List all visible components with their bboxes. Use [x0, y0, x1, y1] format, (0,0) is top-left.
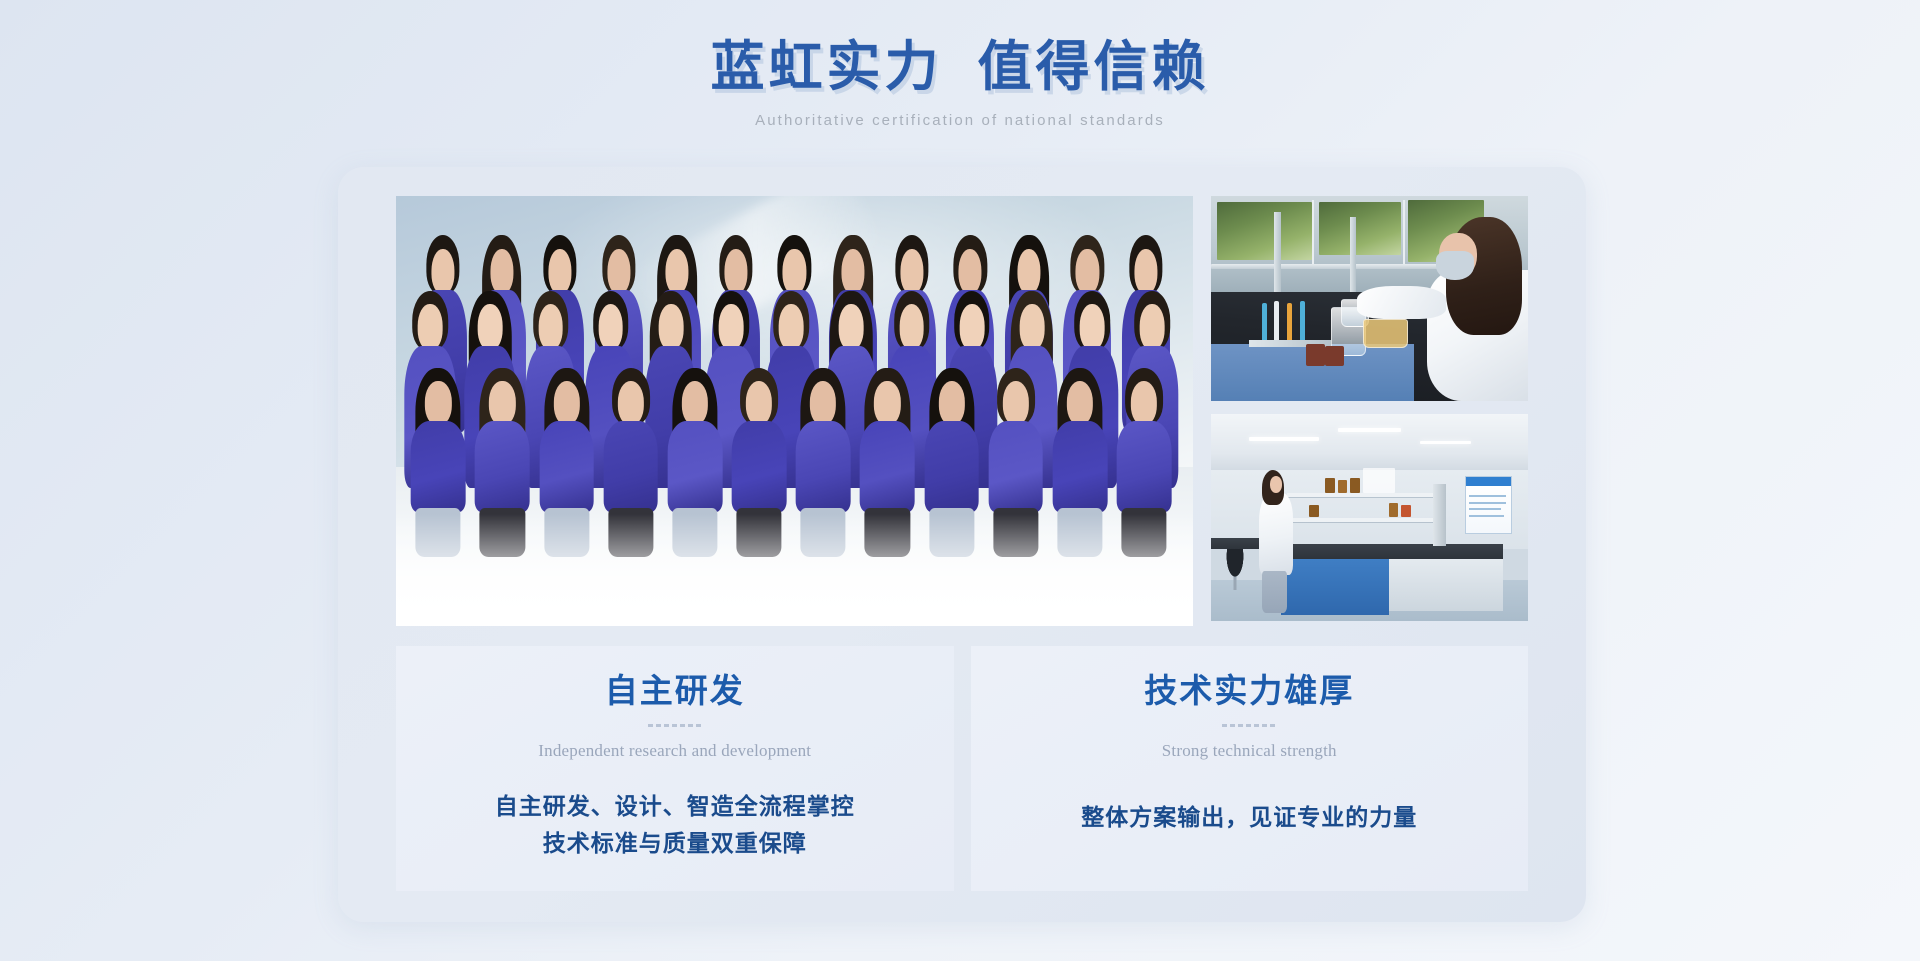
- member-face: [1131, 381, 1157, 425]
- member-face: [900, 249, 923, 294]
- member-work-jacket: [732, 421, 787, 512]
- member-face: [839, 304, 864, 349]
- window-frame-v2: [1403, 200, 1405, 264]
- page-subtitle: Authoritative certification of national …: [0, 112, 1920, 129]
- poster-line-2: [1469, 502, 1505, 504]
- member-face: [1080, 304, 1105, 349]
- page-root: { "header": { "title": "蓝虹实力 值得信赖", "sub…: [0, 0, 1920, 961]
- island-cabinet-blue: [1281, 559, 1389, 615]
- card-body: 自主研发、设计、智造全流程掌控 技术标准与质量双重保障: [396, 788, 954, 863]
- feature-card-independent-rd[interactable]: 自主研发 Independent research and developmen…: [396, 646, 954, 891]
- member-face: [1003, 381, 1029, 425]
- card-body-line: 自主研发、设计、智造全流程掌控: [396, 788, 954, 825]
- lab-window-mid: [1319, 202, 1401, 255]
- member-face: [1134, 249, 1157, 294]
- member-face: [618, 381, 644, 425]
- member-face: [1076, 249, 1099, 294]
- reagent-bottle-e: [1401, 505, 1411, 517]
- member-face: [489, 381, 515, 425]
- technician-face-mask: [1436, 251, 1474, 280]
- member-face: [719, 304, 744, 349]
- side-bench-left: [1211, 538, 1262, 548]
- reagent-bottle-b: [1338, 480, 1348, 492]
- reagent-bottle-1: [1306, 344, 1325, 367]
- member-work-jacket: [411, 421, 466, 512]
- member-work-jacket: [475, 421, 530, 512]
- page-title: 蓝虹实力 值得信赖: [0, 34, 1920, 102]
- card-body-line: 技术标准与质量双重保障: [396, 825, 954, 862]
- member-face: [779, 304, 804, 349]
- member-face: [1067, 381, 1093, 425]
- member-work-jacket: [860, 421, 915, 512]
- technician-arm: [1357, 286, 1446, 319]
- researcher-lab-coat: [1259, 493, 1294, 576]
- card-title: 自主研发: [396, 673, 954, 713]
- member-work-jacket: [603, 421, 658, 512]
- reagent-bottle-a: [1325, 478, 1335, 492]
- pipette-1: [1262, 303, 1267, 342]
- member-work-jacket: [1052, 421, 1107, 512]
- lab-window-left: [1217, 202, 1312, 259]
- ceiling-light-2: [1338, 428, 1401, 432]
- reagent-shelf-lower: [1287, 518, 1439, 522]
- feature-cards: 自主研发 Independent research and developmen…: [396, 646, 1528, 891]
- member-face: [682, 381, 708, 425]
- page-header: 蓝虹实力 值得信赖 Authoritative certification of…: [0, 0, 1920, 129]
- ceiling-light-1: [1249, 437, 1319, 441]
- lab-stool: [1221, 549, 1250, 590]
- member-face: [938, 381, 964, 425]
- reagent-bottle-2: [1325, 346, 1344, 367]
- member-face: [598, 304, 623, 349]
- member-work-jacket: [796, 421, 851, 512]
- island-cabinet-grey: [1389, 559, 1503, 611]
- member-face: [1140, 304, 1165, 349]
- member-work-jacket: [924, 421, 979, 512]
- member-face: [659, 304, 684, 349]
- test-tube-rack: [1363, 468, 1395, 493]
- pipette-2: [1274, 301, 1279, 342]
- card-body-line: 整体方案输出，见证专业的力量: [971, 799, 1529, 836]
- photo-gallery: [396, 196, 1528, 626]
- photo-bottom-fade: [396, 514, 1193, 626]
- reagent-shelf-upper: [1287, 493, 1439, 497]
- member-face: [746, 381, 772, 425]
- feature-card-technical-strength[interactable]: 技术实力雄厚 Strong technical strength 整体方案输出，…: [971, 646, 1529, 891]
- member-face: [899, 304, 924, 349]
- member-work-jacket: [988, 421, 1043, 512]
- member-face: [666, 249, 689, 294]
- safety-poster: [1465, 476, 1513, 534]
- overhead-shelf: [1211, 264, 1439, 269]
- member-face: [783, 249, 806, 294]
- member-face: [959, 304, 984, 349]
- team-group-photo: [396, 196, 1193, 626]
- lab-technician-photo: [1211, 196, 1528, 401]
- member-work-jacket: [539, 421, 594, 512]
- poster-line-1: [1469, 495, 1505, 497]
- card-body: 整体方案输出，见证专业的力量: [971, 799, 1529, 836]
- sample-rack: [1363, 319, 1407, 348]
- member-face: [842, 249, 865, 294]
- researcher-face: [1270, 476, 1283, 493]
- card-divider: [1222, 724, 1276, 727]
- reagent-bottle-c: [1350, 478, 1360, 492]
- member-face: [425, 381, 451, 425]
- member-face: [553, 381, 579, 425]
- member-face: [959, 249, 982, 294]
- pipette-4: [1300, 301, 1305, 342]
- member-face: [1020, 304, 1045, 349]
- reagent-bottle-d: [1389, 503, 1399, 517]
- lab-ceiling: [1211, 414, 1528, 470]
- card-subtitle: Strong technical strength: [971, 741, 1529, 761]
- bench-service-column: [1433, 484, 1446, 546]
- card-title: 技术实力雄厚: [971, 673, 1529, 713]
- poster-line-4: [1469, 515, 1504, 517]
- member-face: [490, 249, 513, 294]
- member-face: [810, 381, 836, 425]
- member-face: [607, 249, 630, 294]
- researcher-jeans: [1262, 571, 1287, 612]
- ceiling-light-3: [1420, 441, 1471, 444]
- pipette-3: [1287, 303, 1292, 342]
- member-work-jacket: [668, 421, 723, 512]
- laboratory-room-photo: [1211, 414, 1528, 621]
- shelf-post-1: [1274, 212, 1281, 294]
- island-benchtop: [1281, 544, 1503, 558]
- window-frame-v1: [1312, 200, 1314, 264]
- content-panel: 自主研发 Independent research and developmen…: [338, 167, 1586, 922]
- card-divider: [648, 724, 702, 727]
- member-face: [549, 249, 572, 294]
- member-face: [538, 304, 563, 349]
- shelf-post-2: [1350, 217, 1356, 295]
- member-face: [874, 381, 900, 425]
- member-face: [724, 249, 747, 294]
- member-face: [418, 304, 443, 349]
- poster-line-3: [1469, 508, 1501, 510]
- member-work-jacket: [1117, 421, 1172, 512]
- member-face: [478, 304, 503, 349]
- reagent-bottle-f: [1309, 505, 1319, 517]
- member-face: [1017, 249, 1040, 294]
- member-face: [431, 249, 454, 294]
- card-subtitle: Independent research and development: [396, 741, 954, 761]
